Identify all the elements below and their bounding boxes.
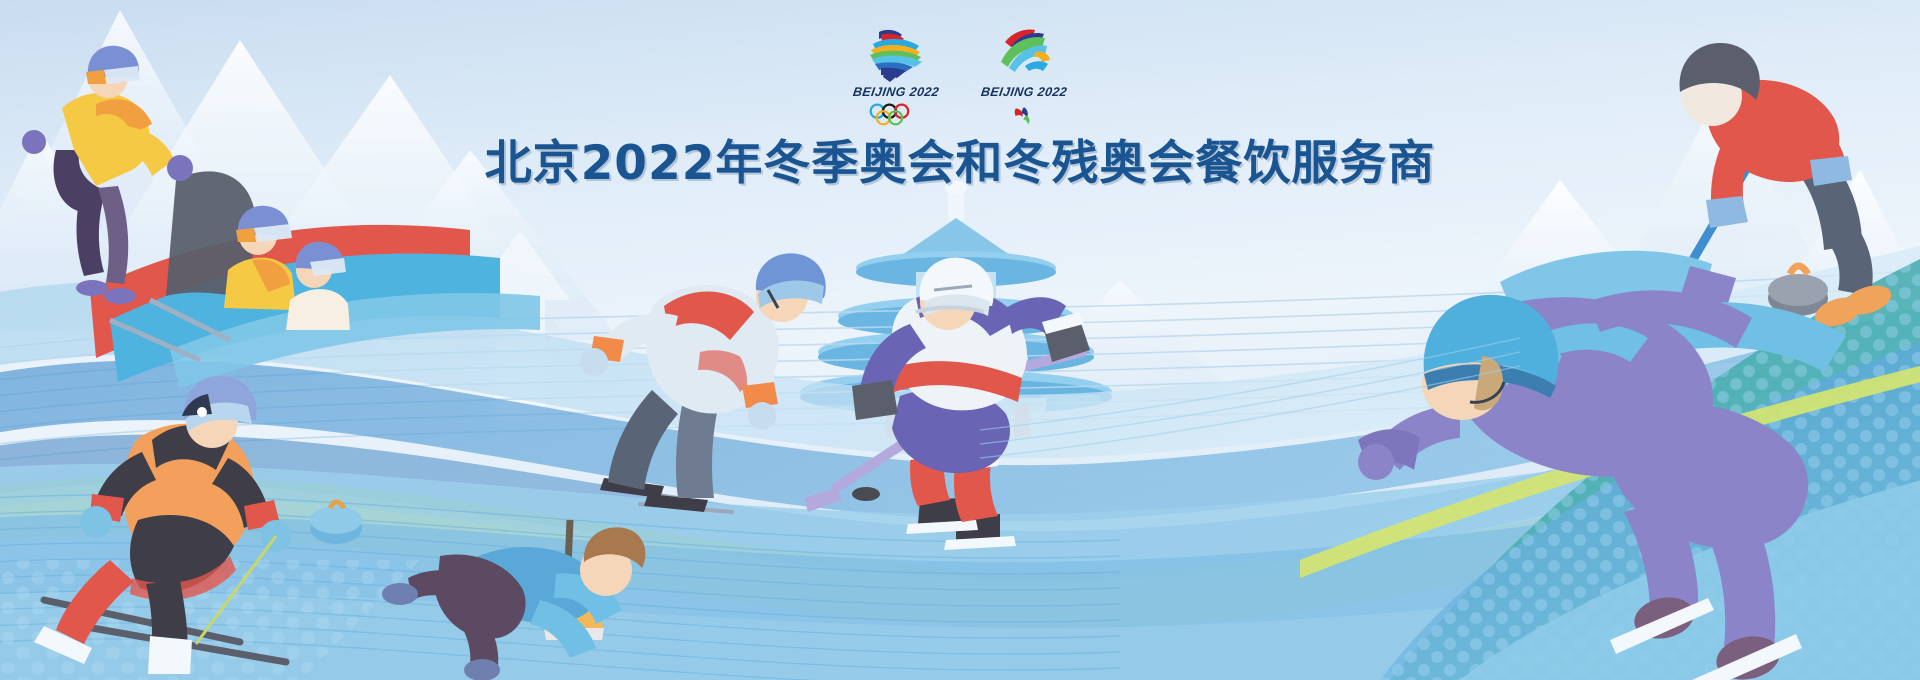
paralympic-agitos-icon <box>1002 102 1046 126</box>
emblem-row: BEIJING 2022 <box>848 26 1072 126</box>
olympic-rings-icon <box>866 102 926 126</box>
olympic-emblem-wordmark: BEIJING 2022 <box>852 85 940 99</box>
page-title: 北京2022年冬季奥会和冬残奥会餐饮服务商 <box>0 124 1920 193</box>
beijing-2022-paralympic-emblem[interactable]: BEIJING 2022 <box>976 26 1072 126</box>
winter-dream-emblem-icon <box>859 26 933 82</box>
beijing-2022-catering-sponsor-banner: BEIJING 2022 <box>0 0 1920 680</box>
beijing-2022-olympic-emblem[interactable]: BEIJING 2022 <box>848 26 944 126</box>
paralympic-emblem-wordmark: BEIJING 2022 <box>980 85 1068 99</box>
flight-emblem-icon <box>987 26 1061 82</box>
